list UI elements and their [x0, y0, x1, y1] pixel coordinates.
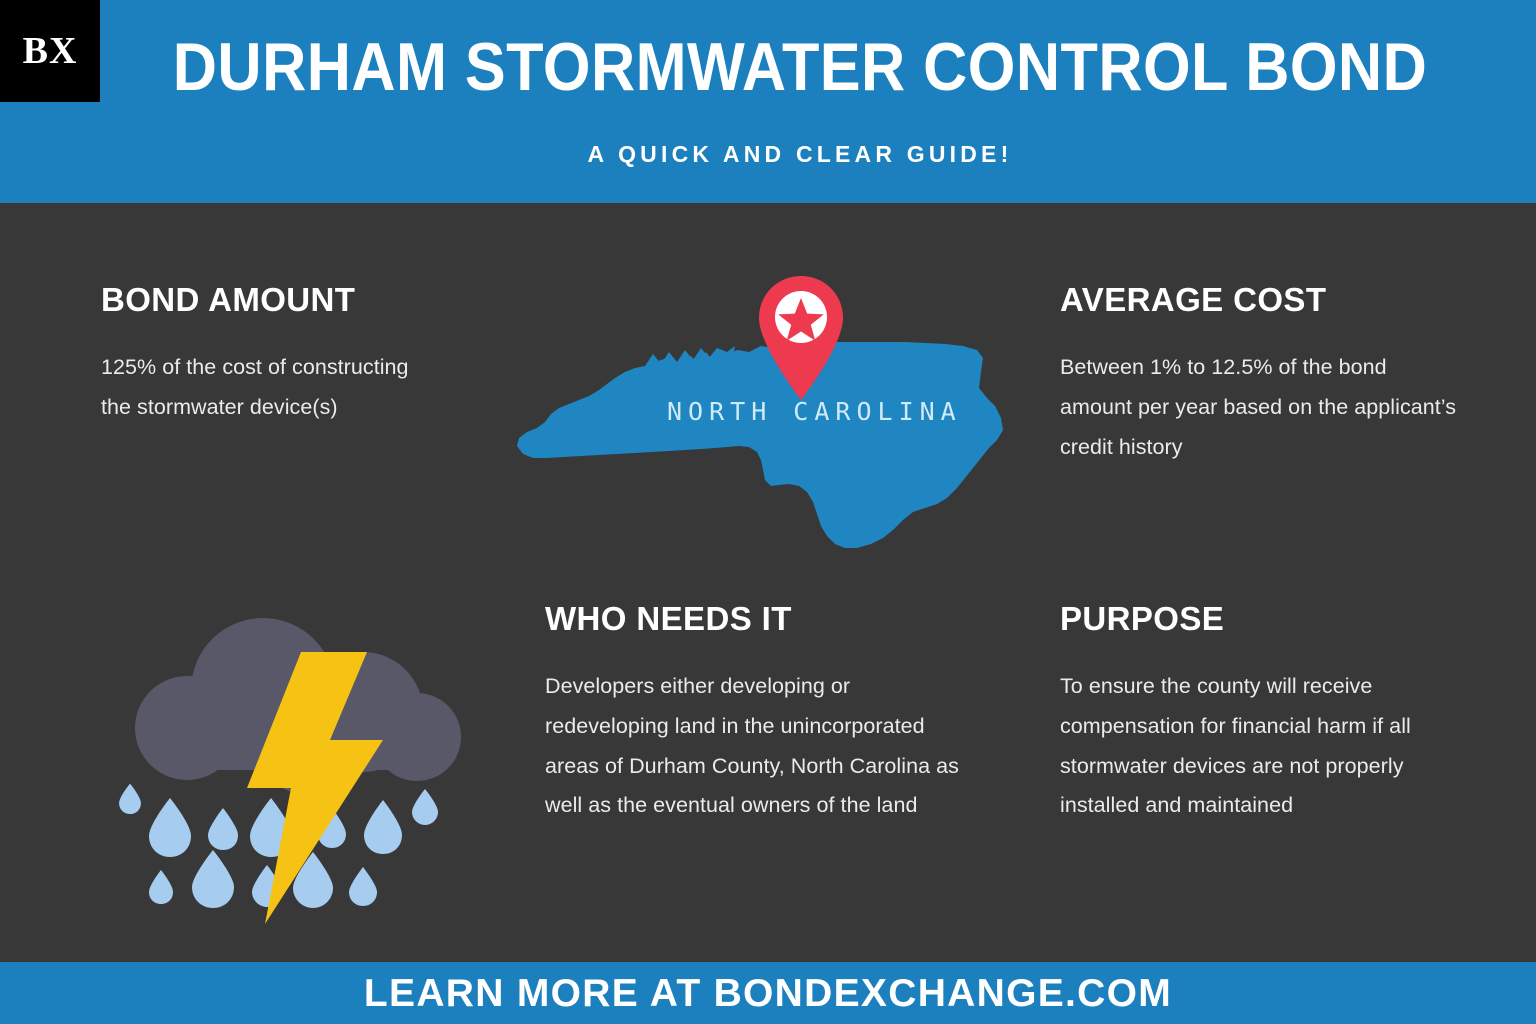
footer-cta-text: LEARN MORE AT BONDEXCHANGE.COM — [364, 974, 1172, 1013]
raindrop-icon — [192, 850, 234, 908]
raindrop-icon — [412, 789, 438, 825]
north-carolina-map: NORTH CAROLINA — [495, 272, 1015, 572]
bx-logo-text: BX — [23, 32, 78, 70]
raindrop-icon — [149, 870, 173, 904]
panel-purpose-body: To ensure the county will receive compen… — [1060, 667, 1460, 826]
storm-cloud-icon — [95, 612, 495, 942]
panel-bond-amount-body: 125% of the cost of constructing the sto… — [101, 348, 441, 428]
panel-purpose-title: PURPOSE — [1060, 602, 1460, 635]
panel-who-needs-it-title: WHO NEEDS IT — [545, 602, 975, 635]
raindrop-icon — [349, 867, 377, 906]
header-banner: BX DURHAM STORMWATER CONTROL BOND A QUIC… — [0, 0, 1536, 203]
bx-logo: BX — [0, 0, 100, 102]
infographic-page: BX DURHAM STORMWATER CONTROL BOND A QUIC… — [0, 0, 1536, 1024]
panel-average-cost: AVERAGE COST Between 1% to 12.5% of the … — [1060, 283, 1460, 467]
panel-purpose: PURPOSE To ensure the county will receiv… — [1060, 602, 1460, 826]
panel-average-cost-body: Between 1% to 12.5% of the bond amount p… — [1060, 348, 1460, 467]
raindrop-icon — [149, 798, 191, 857]
footer-banner: LEARN MORE AT BONDEXCHANGE.COM — [0, 962, 1536, 1024]
panel-who-needs-it-body: Developers either developing or redevelo… — [545, 667, 975, 826]
panel-who-needs-it: WHO NEEDS IT Developers either developin… — [545, 602, 975, 826]
map-pin-star-icon — [751, 272, 851, 402]
panel-bond-amount-title: BOND AMOUNT — [101, 283, 441, 316]
raindrop-icon — [208, 808, 238, 850]
raindrop-icon — [119, 784, 141, 814]
raindrop-icon — [364, 800, 402, 854]
panel-average-cost-title: AVERAGE COST — [1060, 283, 1460, 316]
panel-bond-amount: BOND AMOUNT 125% of the cost of construc… — [101, 283, 441, 428]
storm-illustration — [95, 612, 495, 942]
page-title: DURHAM STORMWATER CONTROL BOND — [170, 33, 1430, 101]
page-subtitle: A QUICK AND CLEAR GUIDE! — [100, 143, 1500, 166]
map-state-label: NORTH CAROLINA — [667, 397, 962, 426]
